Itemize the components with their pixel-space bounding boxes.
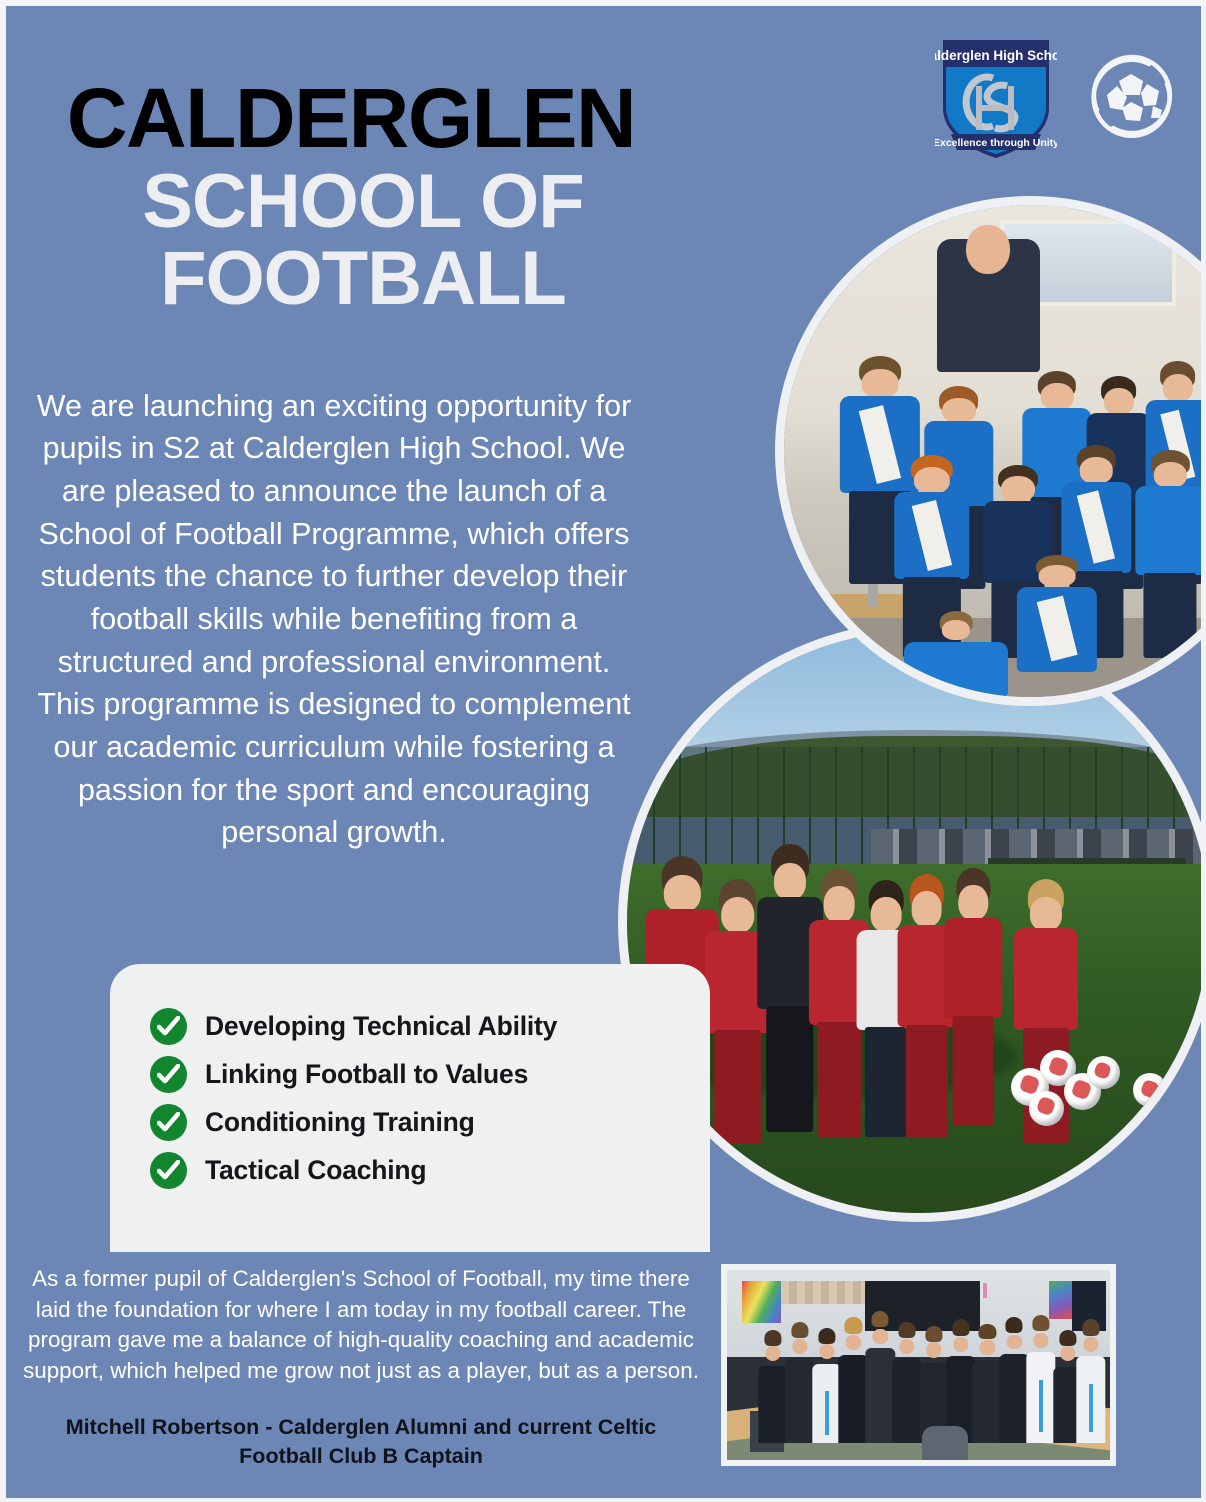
- football-icon: [1083, 48, 1179, 144]
- features-card: Developing Technical Ability Linking Foo…: [110, 964, 710, 1252]
- feature-label: Developing Technical Ability: [205, 1011, 557, 1042]
- testimonial-quote: As a former pupil of Calderglen's School…: [20, 1264, 702, 1387]
- page-title-line3: FOOTBALL: [6, 240, 686, 318]
- feature-label: Tactical Coaching: [205, 1155, 426, 1186]
- school-crest-icon: Calderglen High School Excellence throug…: [935, 34, 1057, 162]
- check-circle-icon: [150, 1056, 187, 1093]
- school-group-photo: [721, 1264, 1116, 1466]
- check-circle-icon: [150, 1152, 187, 1189]
- intro-paragraph: We are launching an exciting opportunity…: [34, 385, 634, 855]
- page-title-line2: SCHOOL OF: [6, 163, 686, 241]
- testimonial-block: As a former pupil of Calderglen's School…: [20, 1264, 702, 1471]
- page-title-main: CALDERGLEN: [6, 78, 686, 159]
- feature-item[interactable]: Developing Technical Ability: [150, 1008, 557, 1045]
- team-photo-indoor: [775, 196, 1206, 706]
- feature-label: Conditioning Training: [205, 1107, 475, 1138]
- headline-block: CALDERGLEN SCHOOL OF FOOTBALL: [6, 78, 686, 318]
- poster-root: Calderglen High School Excellence throug…: [0, 0, 1206, 1502]
- check-circle-icon: [150, 1008, 187, 1045]
- feature-item[interactable]: Conditioning Training: [150, 1104, 557, 1141]
- feature-item[interactable]: Linking Football to Values: [150, 1056, 557, 1093]
- testimonial-author: Mitchell Robertson - Calderglen Alumni a…: [20, 1413, 702, 1471]
- features-list: Developing Technical Ability Linking Foo…: [150, 1008, 557, 1189]
- feature-label: Linking Football to Values: [205, 1059, 528, 1090]
- feature-item[interactable]: Tactical Coaching: [150, 1152, 557, 1189]
- svg-text:Excellence through Unity: Excellence through Unity: [935, 137, 1057, 149]
- logo-row: Calderglen High School Excellence throug…: [935, 34, 1179, 162]
- svg-text:Calderglen High School: Calderglen High School: [935, 48, 1057, 63]
- check-circle-icon: [150, 1104, 187, 1141]
